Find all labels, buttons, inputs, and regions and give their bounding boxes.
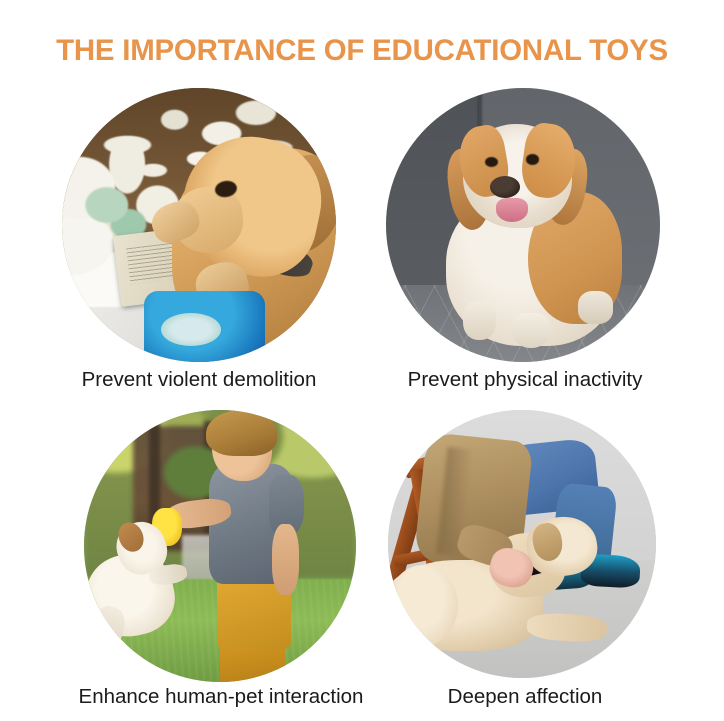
boy-hair-layer [206,410,277,456]
photo-scene [386,88,660,362]
photo-scene [62,88,336,362]
blue-bin-label-layer [161,313,221,346]
benefits-grid: Prevent violent demolition [0,0,724,721]
dog-nose-layer [490,176,520,198]
boy-playing-with-dog-photo [84,410,356,682]
dog-left-paw-layer [463,302,496,340]
benefit-card-prevent-physical-inactivity[interactable]: Prevent physical inactivity [326,80,724,380]
dog-right-eye-layer [526,154,540,165]
dog-haunch-layer [388,565,458,645]
benefit-card-deepen-affection[interactable]: Deepen affection [326,402,724,702]
dog-shredding-paper-photo [62,88,336,362]
dog-back-paw-layer [578,291,614,324]
photo-scene [84,410,356,682]
dog-right-paw-layer [512,313,550,349]
person-petting-labrador-photo [388,410,656,678]
overweight-beagle-photo [386,88,660,362]
benefit-caption: Deepen affection [326,685,724,709]
boy-right-arm-layer [272,524,299,595]
benefit-caption: Prevent physical inactivity [326,368,724,392]
photo-scene [388,410,656,678]
